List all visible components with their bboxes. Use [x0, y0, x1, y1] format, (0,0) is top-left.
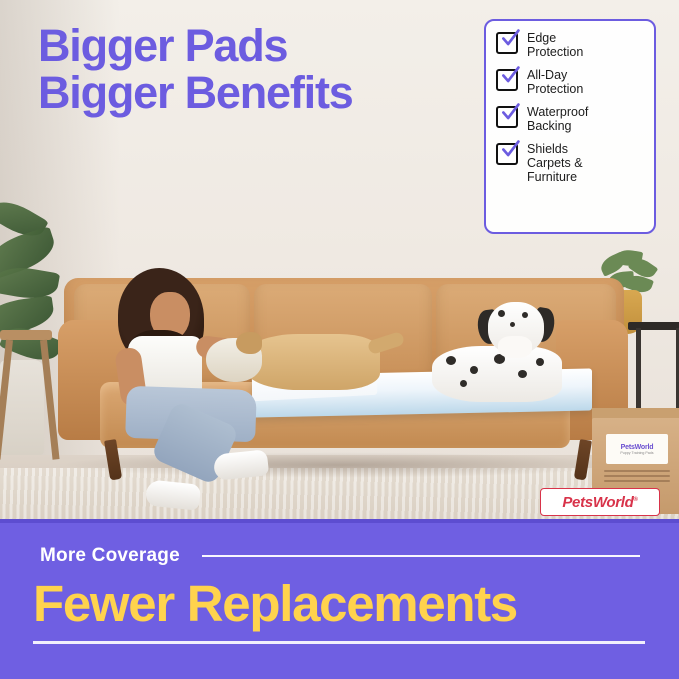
dalmatian-spot: [446, 356, 456, 365]
registered-trademark-icon: ®: [634, 497, 638, 503]
bottom-banner: More Coverage Fewer Replacements: [0, 519, 679, 679]
dalmatian-spot: [510, 322, 515, 327]
box-brand-text: PetsWorld: [621, 444, 654, 451]
page-title: Bigger Pads Bigger Benefits: [38, 22, 353, 116]
brand-badge: PetsWorld®: [540, 488, 660, 516]
feature-label: All-Day Protection: [527, 68, 583, 96]
couch-shadow: [60, 452, 620, 478]
banner-bottom-divider: [33, 641, 645, 644]
dalmatian-spot: [470, 366, 478, 374]
headline-line-2: Bigger Benefits: [38, 67, 353, 118]
checkbox-checked-icon: [496, 143, 518, 165]
dalmatian-spot: [536, 358, 544, 366]
dalmatian-spot: [460, 380, 467, 387]
lifestyle-photo: PetsWorld Puppy Training Pads PetsWorld®…: [0, 0, 679, 519]
banner-top-edge: [0, 519, 679, 523]
dalmatian-spot: [518, 370, 527, 378]
tan-dog-body: [244, 334, 380, 390]
dalmatian-spot: [498, 310, 505, 317]
banner-subtitle: More Coverage: [40, 545, 180, 567]
brand-name: PetsWorld®: [562, 494, 637, 511]
feature-label: Edge Protection: [527, 31, 583, 59]
product-box-label: PetsWorld Puppy Training Pads: [606, 434, 668, 464]
checkbox-checked-icon: [496, 69, 518, 91]
banner-title: Fewer Replacements: [33, 577, 517, 631]
banner-divider: [202, 555, 640, 557]
feature-item: Shields Carpets & Furniture: [496, 142, 646, 184]
dalmatian-spot: [522, 312, 528, 318]
dalmatian-body: [432, 346, 562, 402]
headline-line-1: Bigger Pads: [38, 20, 287, 71]
checkbox-checked-icon: [496, 32, 518, 54]
feature-label: Shields Carpets & Furniture: [527, 142, 583, 184]
tan-dog-ear: [236, 332, 262, 354]
checkbox-checked-icon: [496, 106, 518, 128]
product-box-text-lines: [604, 470, 670, 485]
feature-item: Edge Protection: [496, 31, 646, 59]
product-infographic: PetsWorld Puppy Training Pads PetsWorld®…: [0, 0, 679, 679]
feature-list-card: Edge Protection All-Day Protection Water…: [484, 19, 656, 234]
feature-label: Waterproof Backing: [527, 105, 588, 133]
dalmatian-muzzle: [498, 336, 532, 358]
box-tagline-text: Puppy Training Pads: [620, 451, 653, 455]
feature-item: Waterproof Backing: [496, 105, 646, 133]
side-table: [0, 330, 52, 340]
feature-item: All-Day Protection: [496, 68, 646, 96]
